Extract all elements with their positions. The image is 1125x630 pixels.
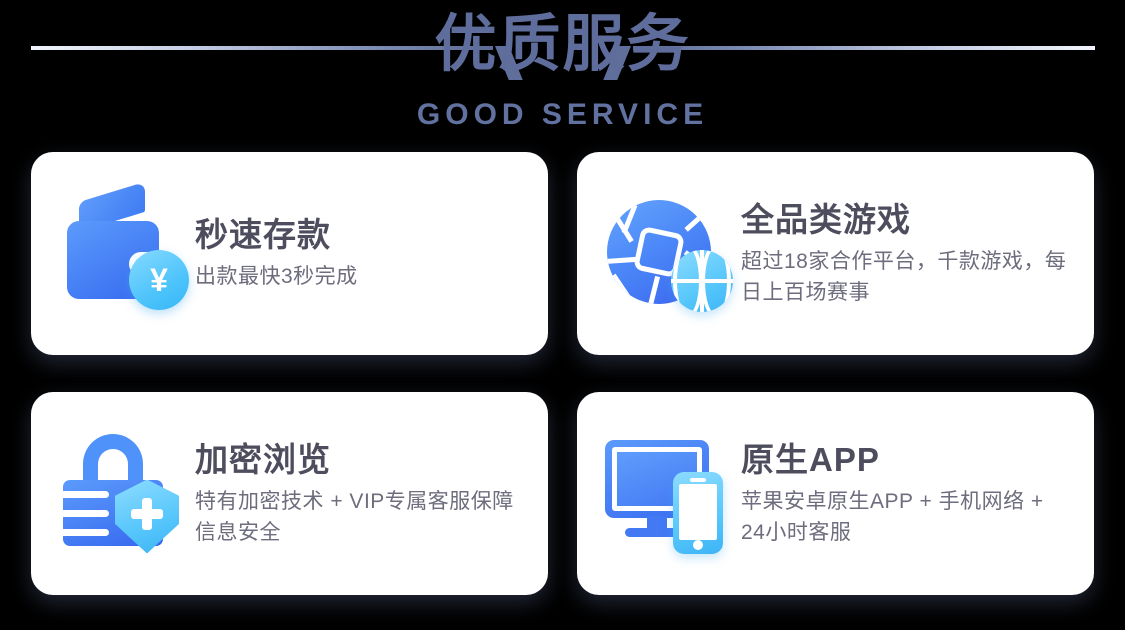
feature-card-encryption[interactable]: 加密浏览 特有加密技术 + VIP专属客服保障信息安全: [31, 392, 548, 595]
monitor-phone-icon: [603, 428, 735, 560]
card-subtitle: 特有加密技术 + VIP专属客服保障信息安全: [195, 486, 526, 548]
page-header: 优质服务 GOOD SERVICE: [0, 0, 1125, 150]
feature-card-grid: ¥ 秒速存款 出款最快3秒完成 全品类游戏 超过18家合作平台，千款游戏，每日上…: [31, 152, 1094, 595]
feature-card-deposit[interactable]: ¥ 秒速存款 出款最快3秒完成: [31, 152, 548, 355]
feature-card-games[interactable]: 全品类游戏 超过18家合作平台，千款游戏，每日上百场赛事: [577, 152, 1094, 355]
phone-speaker: [690, 478, 706, 482]
card-subtitle: 出款最快3秒完成: [195, 261, 526, 292]
card-text-block: 加密浏览 特有加密技术 + VIP专属客服保障信息安全: [195, 440, 526, 548]
card-text-block: 秒速存款 出款最快3秒完成: [195, 215, 526, 292]
card-title: 秒速存款: [195, 215, 526, 255]
card-title: 全品类游戏: [741, 200, 1072, 240]
card-subtitle: 超过18家合作平台，千款游戏，每日上百场赛事: [741, 246, 1072, 308]
wallet-yen-icon: ¥: [57, 188, 189, 320]
phone-screen: [679, 484, 717, 540]
card-text-block: 全品类游戏 超过18家合作平台，千款游戏，每日上百场赛事: [741, 200, 1072, 308]
card-text-block: 原生APP 苹果安卓原生APP + 手机网络 + 24小时客服: [741, 440, 1072, 548]
card-subtitle: 苹果安卓原生APP + 手机网络 + 24小时客服: [741, 486, 1072, 548]
soccer-basketball-icon: [603, 188, 735, 320]
page-title: 优质服务: [0, 6, 1125, 84]
card-title: 加密浏览: [195, 440, 526, 480]
card-title: 原生APP: [741, 440, 1072, 480]
lock-shield-icon: [57, 428, 189, 560]
basketball-icon: [671, 250, 733, 312]
page-subtitle: GOOD SERVICE: [0, 98, 1125, 132]
yen-coin-icon: ¥: [129, 250, 189, 310]
phone-home-button: [693, 540, 703, 550]
cross-icon: [131, 498, 163, 530]
feature-card-native-app[interactable]: 原生APP 苹果安卓原生APP + 手机网络 + 24小时客服: [577, 392, 1094, 595]
phone-icon: [673, 472, 723, 554]
